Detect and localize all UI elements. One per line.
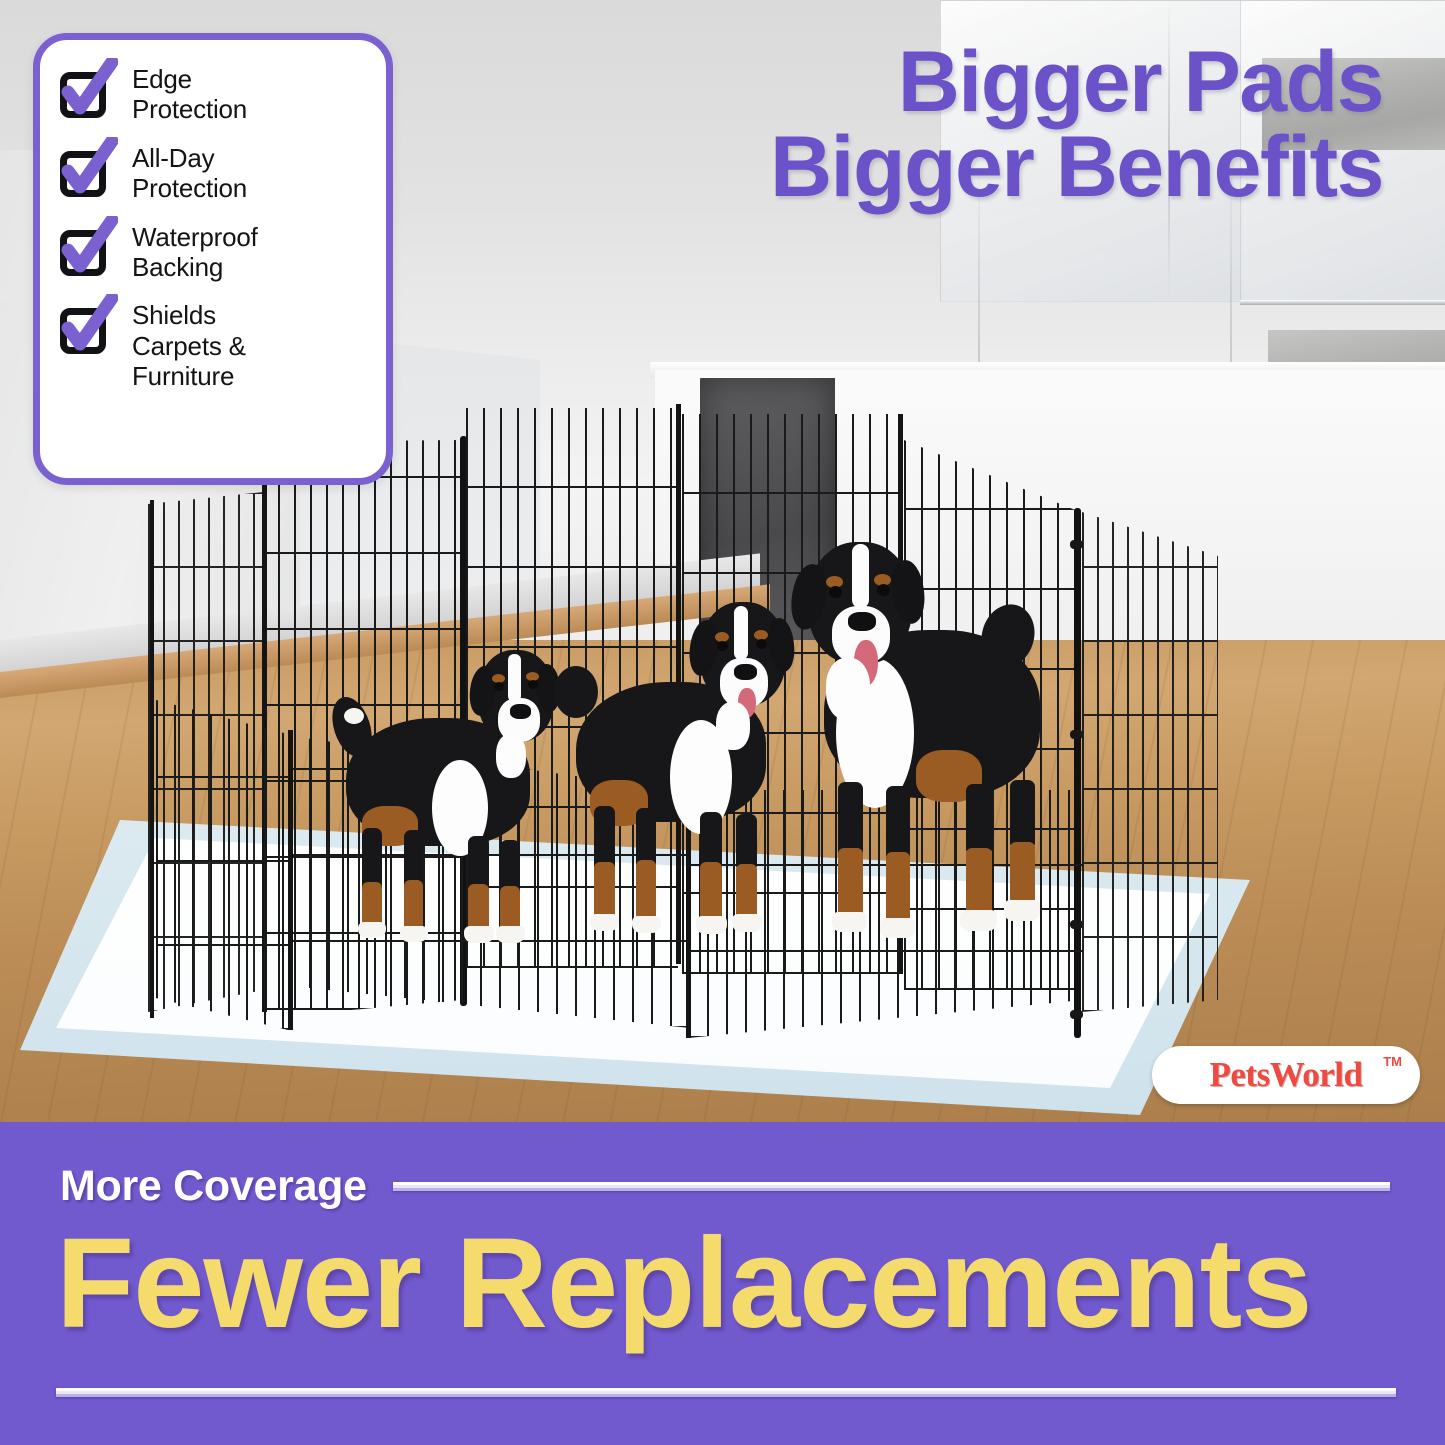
pen-post-1 [150, 500, 154, 1018]
brand-name: PetsWorld [1210, 1055, 1363, 1095]
pen-panel-far-right [1082, 512, 1218, 1012]
pen-hinge-knob-r4 [1070, 1010, 1083, 1019]
features-card: Edge Protection All-Day Protection Water… [33, 33, 393, 485]
pen-panel-front-left [156, 700, 288, 1030]
banner-eyebrow-row: More Coverage [60, 1162, 1390, 1211]
dog-left [300, 630, 560, 970]
dog-right [760, 530, 1090, 980]
checkbox-check-icon [56, 64, 118, 122]
cabinet-rail-upper [1240, 300, 1445, 305]
headline-line-2: Bigger Benefits [453, 125, 1383, 210]
banner-rule-top [393, 1182, 1390, 1191]
feature-item-shields-carpets-furniture: Shields Carpets & Furniture [56, 298, 370, 391]
brand-logo: PetsWorld TM [1152, 1046, 1420, 1104]
feature-item-edge-protection: Edge Protection [56, 62, 370, 125]
trademark-symbol: TM [1383, 1054, 1402, 1069]
checkbox-check-icon [56, 222, 118, 280]
checkbox-check-icon [56, 143, 118, 201]
banner-rule-bottom [56, 1388, 1396, 1397]
pen-post-front-a [288, 730, 293, 1030]
feature-item-waterproof-backing: Waterproof Backing [56, 220, 370, 283]
feature-label: Edge Protection [132, 62, 247, 125]
banner-headline: Fewer Replacements [56, 1220, 1401, 1348]
feature-item-all-day-protection: All-Day Protection [56, 141, 370, 204]
headline: Bigger Pads Bigger Benefits [453, 40, 1383, 210]
feature-label: All-Day Protection [132, 141, 247, 204]
feature-label: Shields Carpets & Furniture [132, 298, 246, 391]
checkbox-check-icon [56, 300, 118, 358]
feature-label: Waterproof Backing [132, 220, 258, 283]
headline-line-1: Bigger Pads [898, 34, 1383, 130]
product-infographic: Edge Protection All-Day Protection Water… [0, 0, 1445, 1445]
banner-eyebrow: More Coverage [60, 1162, 367, 1211]
